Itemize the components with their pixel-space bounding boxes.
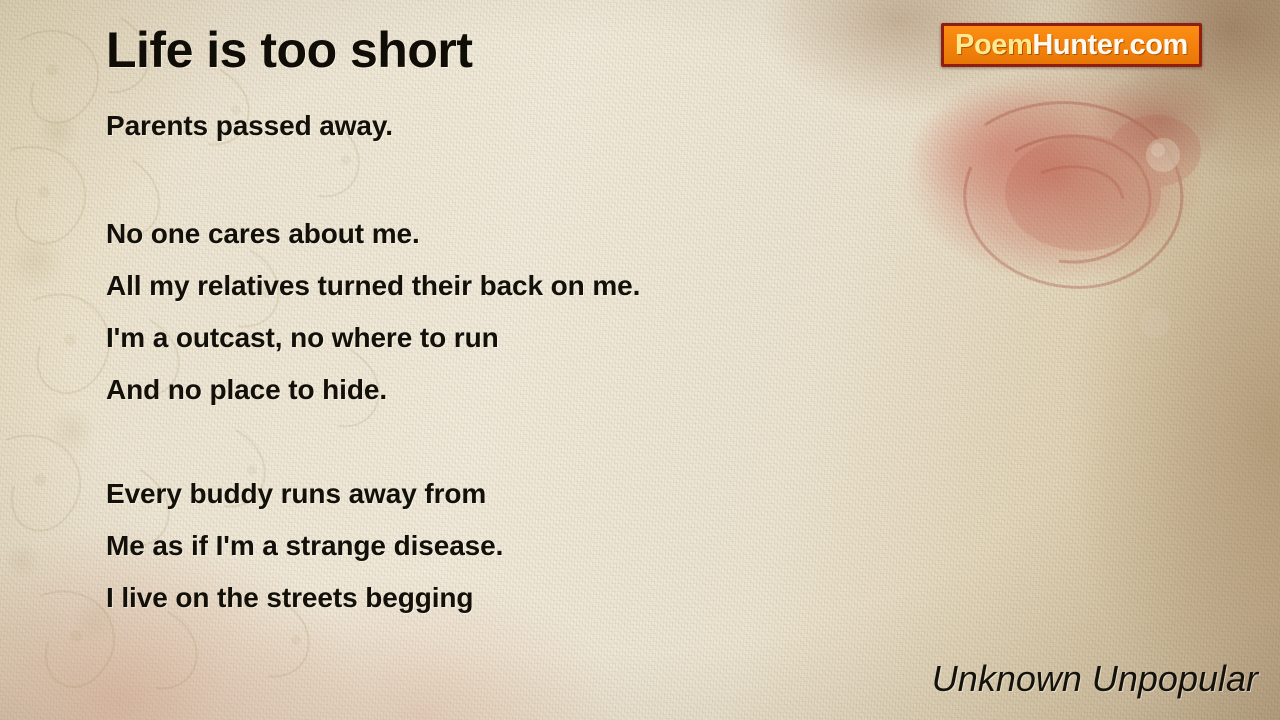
poem-line: Every buddy runs away from — [106, 478, 486, 510]
logo-text-hunter: Hunter.com — [1032, 29, 1188, 61]
logo-text-wrapper: PoemHunter.com — [955, 31, 1188, 60]
author-name: Unknown Unpopular — [932, 658, 1258, 700]
poem-line: Me as if I'm a strange disease. — [106, 530, 503, 562]
poemhunter-logo[interactable]: PoemHunter.com — [941, 23, 1202, 67]
page-title: Life is too short — [106, 23, 473, 77]
poem-line: No one cares about me. — [106, 218, 420, 250]
poem-image-card: Life is too short Parents passed away. N… — [0, 0, 1280, 720]
rose-flower-decoration — [855, 55, 1280, 385]
poem-line: I'm a outcast, no where to run — [106, 322, 499, 354]
logo-text-poem: Poem — [955, 29, 1032, 61]
poem-line: Parents passed away. — [106, 110, 393, 142]
poem-line: I live on the streets begging — [106, 582, 473, 614]
poem-line: All my relatives turned their back on me… — [106, 270, 640, 302]
poem-line: And no place to hide. — [106, 374, 387, 406]
